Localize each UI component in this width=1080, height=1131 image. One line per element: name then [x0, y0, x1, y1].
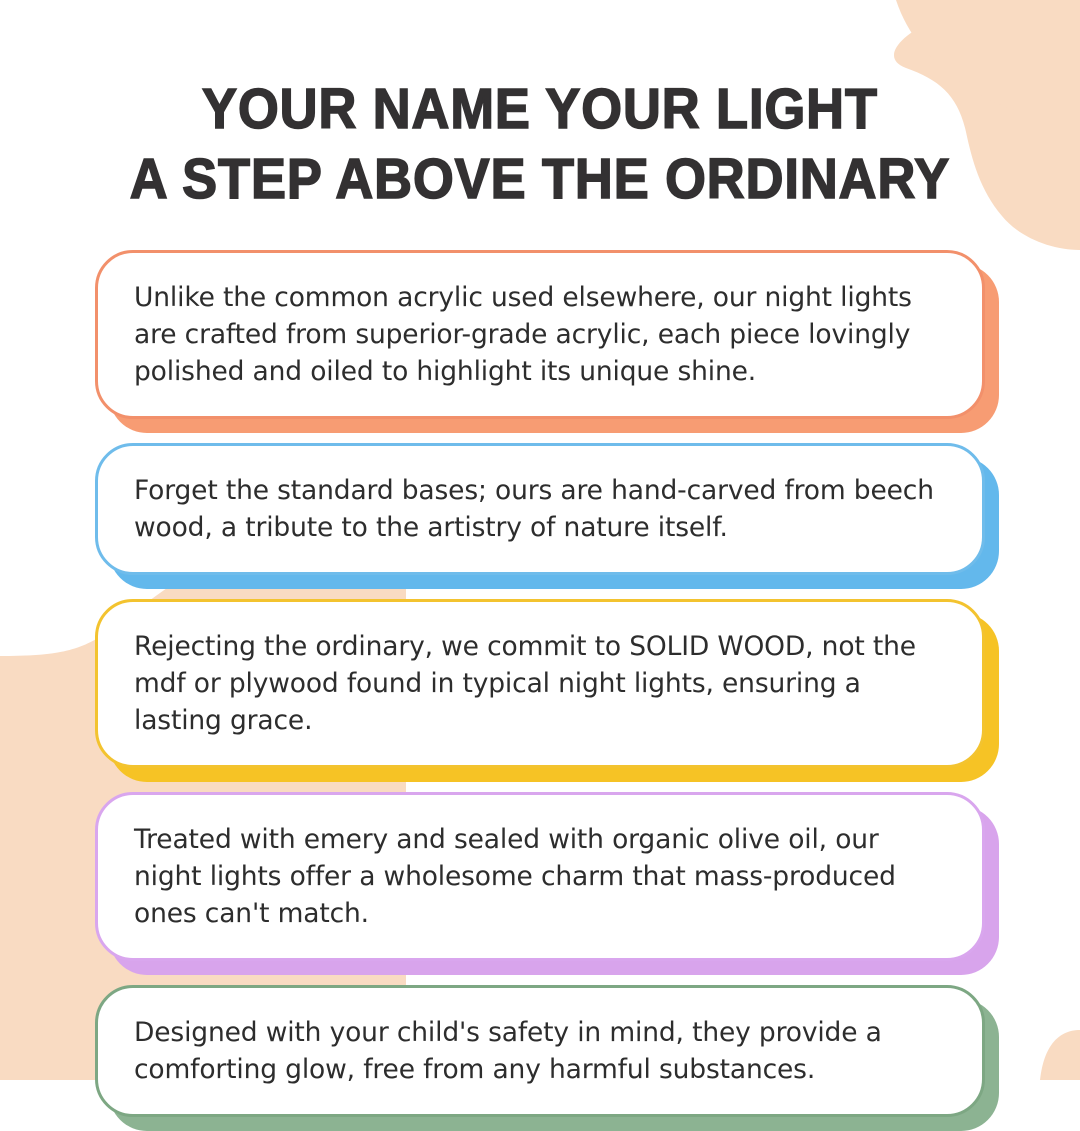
card-solid-wood: Rejecting the ordinary, we commit to SOL… — [95, 599, 985, 768]
headline-line-1: YOUR NAME YOUR LIGHT — [43, 74, 1037, 144]
card-body-text: Treated with emery and sealed with organ… — [134, 821, 948, 932]
feature-card-4: Treated with emery and sealed with organ… — [95, 792, 985, 961]
page-title: YOUR NAME YOUR LIGHT A STEP ABOVE THE OR… — [0, 74, 1080, 214]
card-acrylic: Unlike the common acrylic used elsewhere… — [95, 250, 985, 419]
card-child-safety: Designed with your child's safety in min… — [95, 985, 985, 1117]
feature-card-list: Unlike the common acrylic used elsewhere… — [0, 250, 1080, 1117]
card-body-text: Forget the standard bases; ours are hand… — [134, 472, 948, 546]
feature-card-3: Rejecting the ordinary, we commit to SOL… — [95, 599, 985, 768]
card-body-text: Rejecting the ordinary, we commit to SOL… — [134, 628, 948, 739]
feature-card-2: Forget the standard bases; ours are hand… — [95, 443, 985, 575]
headline-line-2: A STEP ABOVE THE ORDINARY — [43, 144, 1037, 214]
card-body-text: Designed with your child's safety in min… — [134, 1014, 948, 1088]
card-olive-oil: Treated with emery and sealed with organ… — [95, 792, 985, 961]
card-beech-wood: Forget the standard bases; ours are hand… — [95, 443, 985, 575]
feature-card-1: Unlike the common acrylic used elsewhere… — [95, 250, 985, 419]
poster-root: YOUR NAME YOUR LIGHT A STEP ABOVE THE OR… — [0, 0, 1080, 1080]
feature-card-5: Designed with your child's safety in min… — [95, 985, 985, 1117]
card-body-text: Unlike the common acrylic used elsewhere… — [134, 279, 948, 390]
